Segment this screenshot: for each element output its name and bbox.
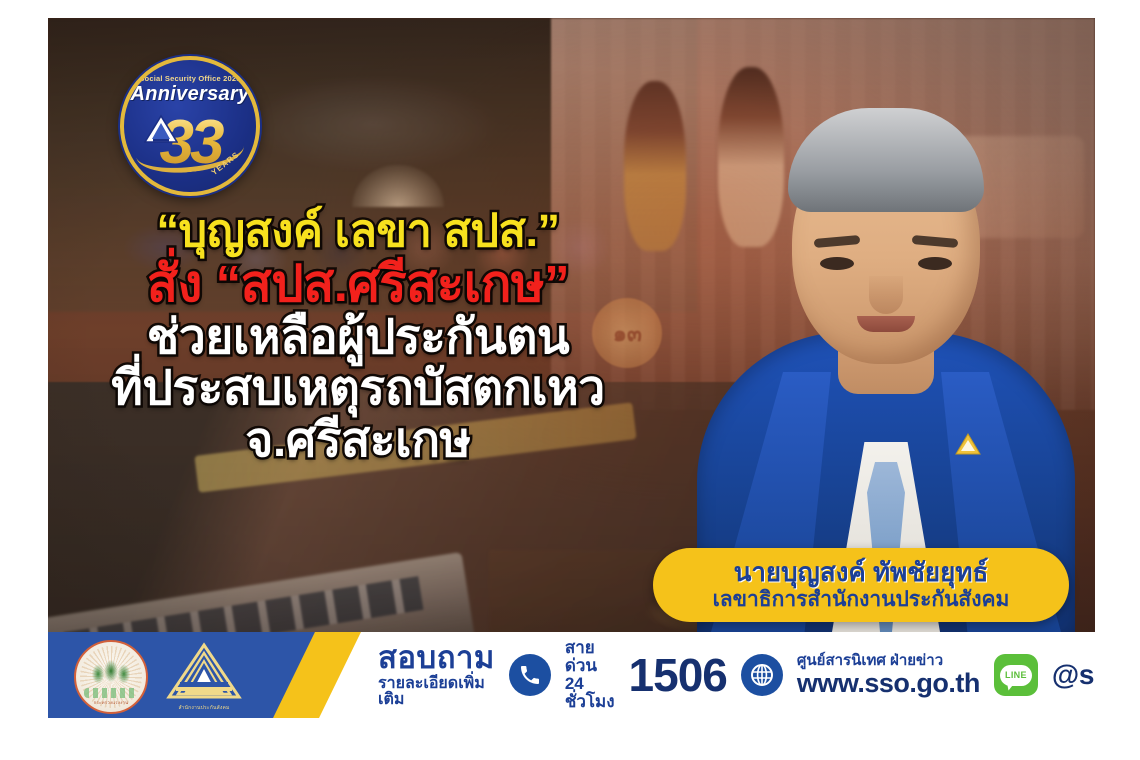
- portrait-eye-left: [820, 257, 854, 270]
- website-url[interactable]: www.sso.go.th: [797, 669, 980, 697]
- hotline-label-line2: 24 ชั่วโมง: [565, 675, 615, 711]
- official-portrait: [671, 32, 1095, 632]
- contact-bar: กระทรวงแรงงาน สำนักงานประกันสังคม สอบถาม…: [48, 632, 1095, 718]
- headline-line-1: “บุญสงค์ เลขา สปส.”: [48, 208, 668, 254]
- poster-canvas: ๑๓ Social Security Office 2023 Anniversa…: [0, 0, 1140, 760]
- anniversary-logo-word: Anniversary: [131, 84, 250, 104]
- headline-line-5: จ.ศรีสะเกษ: [48, 416, 668, 465]
- line-bubble: LINE: [1000, 665, 1032, 686]
- seal-water: [84, 688, 137, 698]
- portrait-eye-right: [918, 257, 952, 270]
- headline-line-4: ที่ประสบเหตุรถบัสตกเหว: [48, 364, 668, 413]
- ask-subheading: รายละเอียดเพิ่มเติม: [378, 676, 495, 708]
- phone-icon[interactable]: [509, 654, 551, 696]
- globe-icon[interactable]: [741, 654, 783, 696]
- ministry-of-labour-seal-icon: กระทรวงแรงงาน: [74, 640, 148, 714]
- agency-logos: กระทรวงแรงงาน สำนักงานประกันสังคม: [74, 640, 242, 714]
- poster: ๑๓ Social Security Office 2023 Anniversa…: [48, 18, 1095, 718]
- nameplate: นายบุญสงค์ ทัพชัยยุทธ์ เลขาธิการสำนักงาน…: [653, 548, 1069, 622]
- website-block[interactable]: ศูนย์สารนิเทศ ฝ่ายข่าว www.sso.go.th: [797, 653, 980, 697]
- sso-logo-caption: สำนักงานประกันสังคม: [166, 704, 242, 712]
- ask-block: สอบถาม รายละเอียดเพิ่มเติม: [378, 642, 495, 708]
- seal-figures: [88, 656, 134, 686]
- lapel-pin-icon: [955, 432, 981, 456]
- anniversary-logo-toptext: Social Security Office 2023: [139, 74, 240, 83]
- ask-heading: สอบถาม: [378, 642, 495, 673]
- portrait-mouth: [857, 316, 915, 332]
- website-label: ศูนย์สารนิเทศ ฝ่ายข่าว: [797, 653, 943, 669]
- contact-details: สอบถาม รายละเอียดเพิ่มเติม สายด่วน 24 ชั…: [378, 632, 1089, 718]
- seal-caption: กระทรวงแรงงาน: [76, 699, 146, 706]
- headline-line-3: ช่วยเหลือผู้ประกันตน: [48, 313, 668, 362]
- line-id[interactable]: @ssothai: [1052, 659, 1095, 691]
- sso-logo-icon: สำนักงานประกันสังคม: [166, 642, 242, 712]
- anniversary-logo: Social Security Office 2023 Anniversary …: [120, 56, 260, 196]
- portrait-hair: [788, 108, 984, 212]
- hotline-labels: สายด่วน 24 ชั่วโมง: [565, 639, 615, 710]
- portrait-nose: [869, 276, 903, 314]
- nameplate-name: นายบุญสงค์ ทัพชัยยุทธ์: [734, 559, 989, 586]
- line-app-icon[interactable]: LINE: [994, 654, 1038, 696]
- nameplate-title: เลขาธิการสำนักงานประกันสังคม: [713, 588, 1010, 611]
- headline-block: “บุญสงค์ เลขา สปส.” สั่ง “สปส.ศรีสะเกษ” …: [48, 208, 668, 467]
- hotline-number[interactable]: 1506: [629, 648, 727, 702]
- headline-line-2: สั่ง “สปส.ศรีสะเกษ”: [48, 258, 668, 311]
- line-badge-label: LINE: [1005, 670, 1027, 680]
- hotline-label-line1: สายด่วน: [565, 639, 615, 675]
